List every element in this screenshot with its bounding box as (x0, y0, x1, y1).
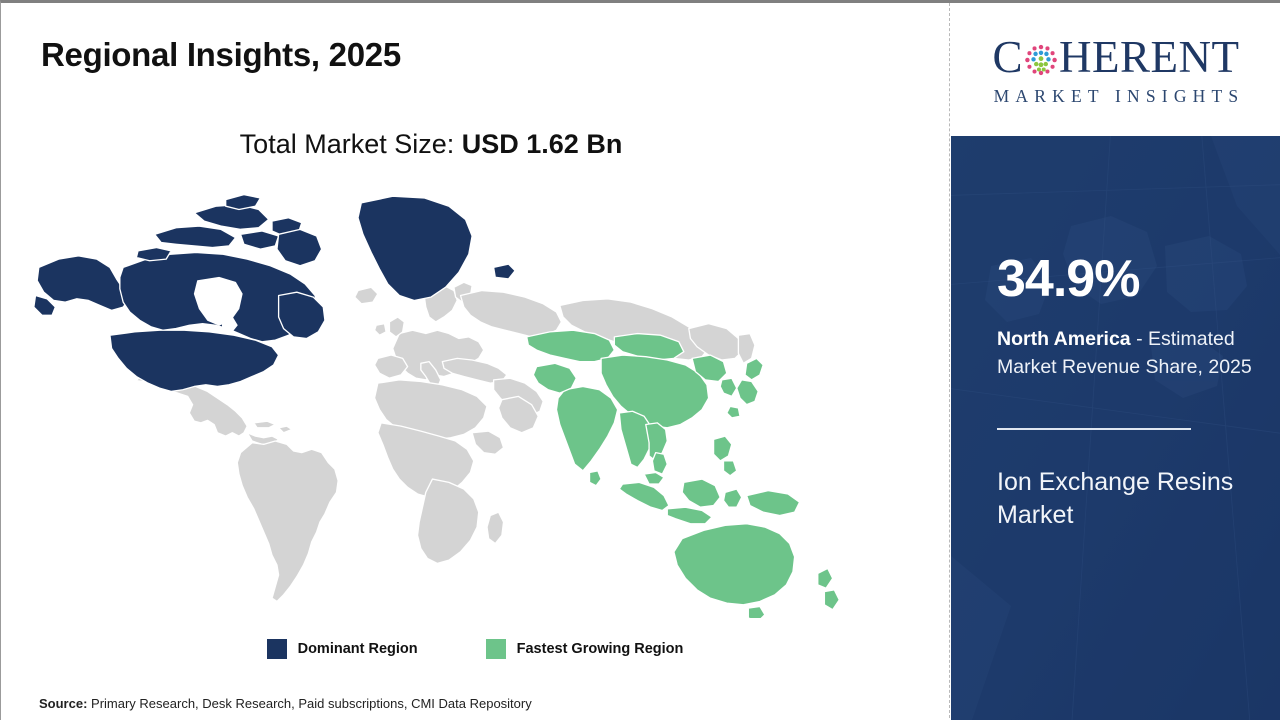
logo-letter-c: C (993, 35, 1024, 80)
world-map-svg (29, 188, 859, 618)
regional-insights-infographic: Regional Insights, 2025 Total Market Siz… (0, 0, 1280, 720)
stat-region-name: North America (997, 328, 1131, 350)
stat-content: 34.9% North America - Estimated Market R… (997, 136, 1259, 720)
market-title: Ion Exchange Resins Market (997, 466, 1259, 532)
legend-label-dominant: Dominant Region (298, 641, 418, 657)
company-logo: C (951, 3, 1280, 136)
stat-divider-rule (997, 428, 1191, 430)
vertical-divider (949, 3, 950, 720)
map-legend: Dominant Region Fastest Growing Region (1, 639, 949, 659)
legend-swatch-fastest-growing (486, 639, 506, 659)
legend-swatch-dominant (267, 639, 287, 659)
source-note: Source: Primary Research, Desk Research,… (39, 696, 532, 711)
logo-word-coherent: HERENT (1059, 35, 1239, 80)
market-size-value: USD 1.62 Bn (462, 129, 623, 159)
legend-label-fastest-growing: Fastest Growing Region (517, 641, 684, 657)
stat-description: North America - Estimated Market Revenue… (997, 326, 1259, 381)
market-size-label: Total Market Size: (240, 129, 455, 159)
world-map (29, 188, 859, 618)
stat-percentage: 34.9% (997, 253, 1139, 305)
logo-subtitle: MARKET INSIGHTS (988, 86, 1245, 107)
map-region-fastest-growing-asia-pacific (527, 330, 840, 618)
left-content-panel: Regional Insights, 2025 Total Market Siz… (1, 3, 949, 720)
page-title: Regional Insights, 2025 (41, 36, 401, 74)
total-market-size: Total Market Size: USD 1.62 Bn (1, 129, 861, 160)
logo-wordmark: C (993, 33, 1240, 83)
dotted-globe-icon (1024, 43, 1058, 77)
stat-panel: 34.9% North America - Estimated Market R… (951, 136, 1280, 720)
legend-item-dominant: Dominant Region (267, 639, 418, 659)
legend-item-fastest-growing: Fastest Growing Region (486, 639, 684, 659)
source-text: Primary Research, Desk Research, Paid su… (87, 696, 531, 711)
right-column: C (951, 3, 1280, 720)
map-hudson-bay (194, 277, 242, 333)
source-label: Source: (39, 696, 87, 711)
